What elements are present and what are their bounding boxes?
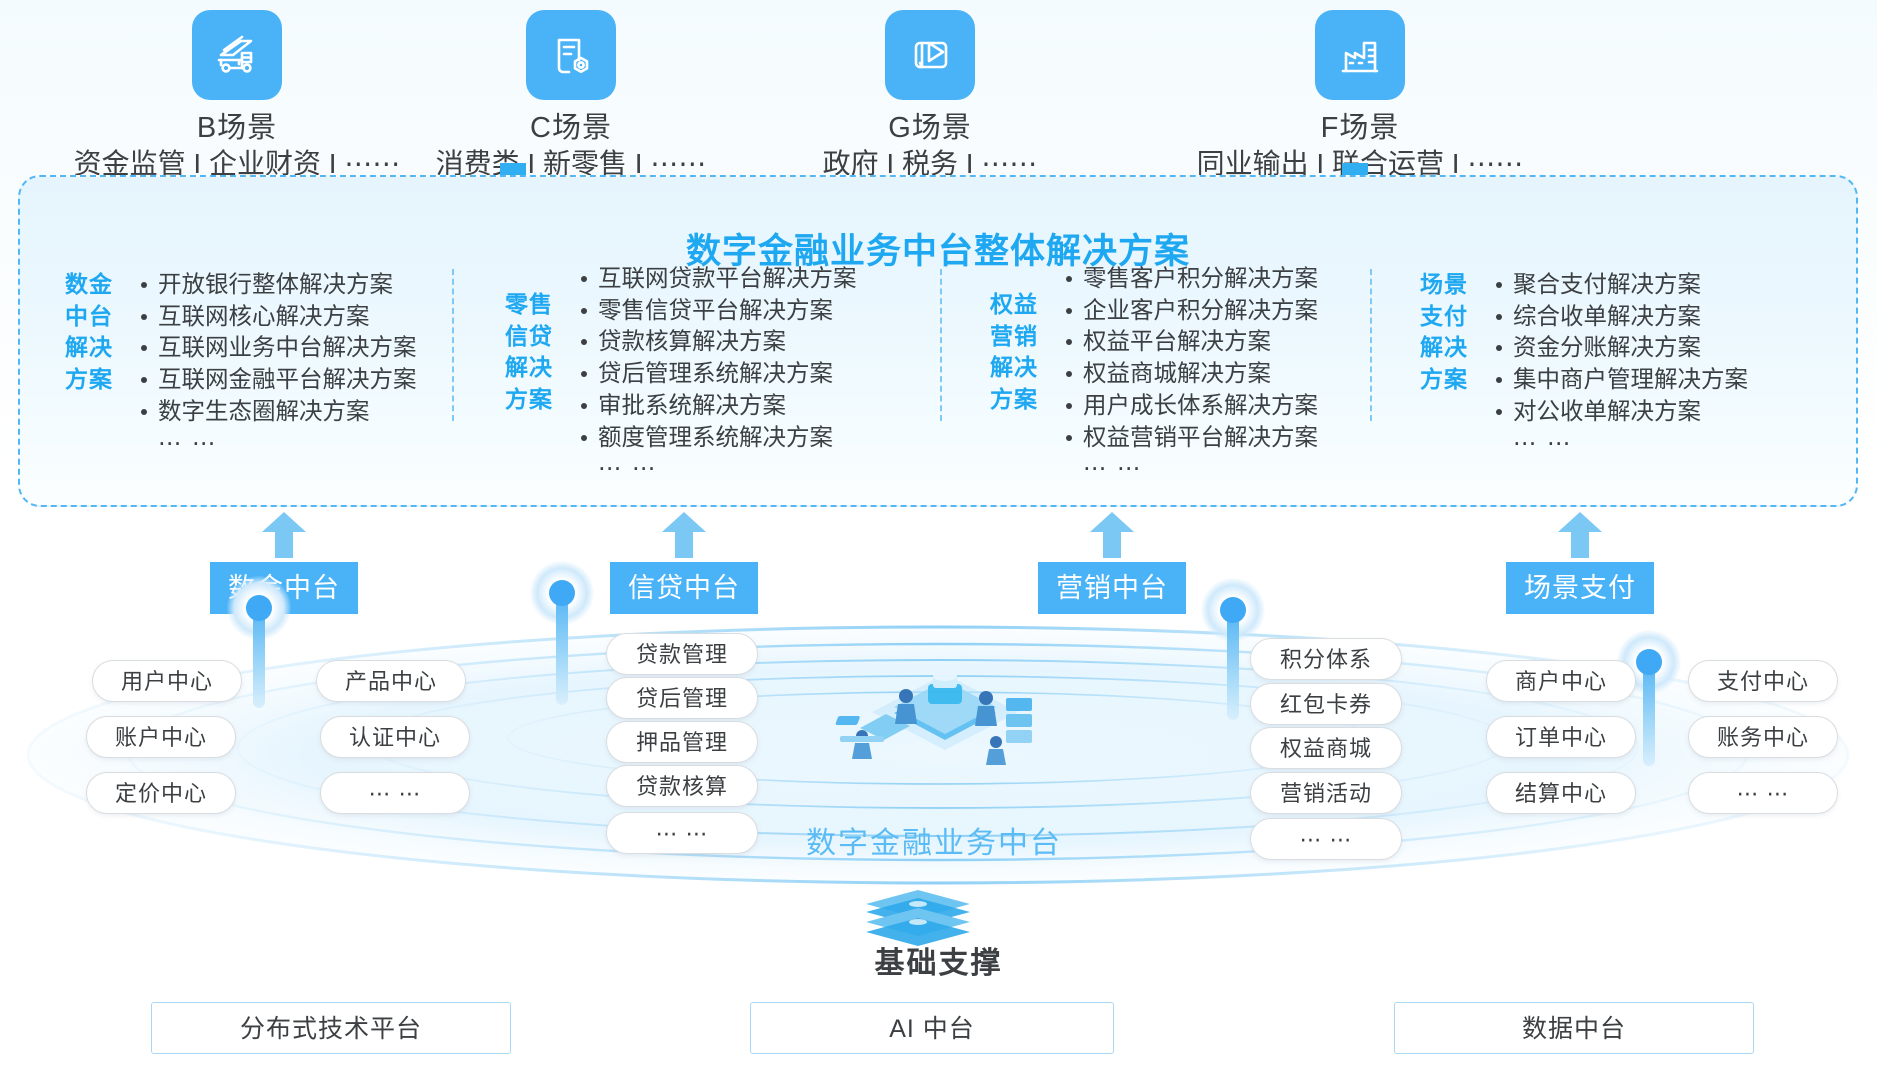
column-divider [940, 269, 942, 421]
capability-pill[interactable]: 定价中心 [86, 772, 236, 814]
base-platform-label: 数字金融业务中台 [806, 818, 1062, 862]
center-platform-illustration [800, 640, 1090, 800]
list-item: 综合收单解决方案 [1491, 301, 1748, 333]
list-ellipsis: ⋯ ⋯ [576, 453, 857, 484]
scene-title: F场景 [1195, 110, 1525, 146]
list-item: 数字生态圈解决方案 [136, 396, 417, 428]
solution-column-retail-credit: 零售 信贷 解决 方案 互联网贷款平台解决方案 零售信贷平台解决方案 贷款核算解… [490, 263, 857, 484]
foundation-box-ai[interactable]: AI 中台 [750, 1002, 1114, 1054]
post-dot [246, 595, 272, 621]
capability-pill[interactable]: ⋯ ⋯ [606, 812, 758, 854]
column-divider [1370, 269, 1372, 421]
column-label: 数金 中台 解决 方案 [50, 269, 128, 396]
list-item: 开放银行整体解决方案 [136, 269, 417, 301]
column-label: 权益 营销 解决 方案 [975, 289, 1053, 416]
arrow-shaft [1103, 532, 1121, 558]
list-ellipsis: ⋯ ⋯ [1061, 453, 1318, 484]
arrow-head [1558, 512, 1602, 532]
capability-pill[interactable]: 账户中心 [86, 716, 236, 758]
scene-title: B场景 [72, 110, 402, 146]
list-item: 企业客户积分解决方案 [1061, 295, 1318, 327]
capability-pill[interactable]: 商户中心 [1486, 660, 1636, 702]
column-divider [452, 269, 454, 421]
solution-panel: 数字金融业务中台整体解决方案 数金 中台 解决 方案 开放银行整体解决方案 互联… [18, 175, 1858, 507]
list-item: 互联网贷款平台解决方案 [576, 263, 857, 295]
list-item: 权益营销平台解决方案 [1061, 422, 1318, 454]
scene-title: C场景 [406, 110, 736, 146]
up-arrow-payment [1558, 512, 1602, 558]
list-ellipsis: ⋯ ⋯ [1491, 428, 1748, 459]
capability-pill[interactable]: 贷款管理 [606, 633, 758, 675]
column-label: 零售 信贷 解决 方案 [490, 289, 568, 416]
post-dot [1220, 597, 1246, 623]
diagram-canvas: B场景 资金监管 I 企业财资 I ⋯⋯ C场景 消费类 I 新零售 I ⋯⋯ … [0, 0, 1877, 1070]
up-arrow-shujin [262, 512, 306, 558]
map-flag-icon [885, 10, 975, 100]
list-item: 贷后管理系统解决方案 [576, 358, 857, 390]
list-item: 审批系统解决方案 [576, 390, 857, 422]
capability-pill[interactable]: 结算中心 [1486, 772, 1636, 814]
arrow-shaft [675, 532, 693, 558]
scene-card-g: G场景 政府 I 税务 I ⋯⋯ [765, 10, 1095, 183]
capability-pill[interactable]: 用户中心 [92, 660, 242, 702]
solution-column-rights-marketing: 权益 营销 解决 方案 零售客户积分解决方案 企业客户积分解决方案 权益平台解决… [975, 263, 1318, 484]
list-item: 用户成长体系解决方案 [1061, 390, 1318, 422]
capability-pill[interactable]: 贷后管理 [606, 677, 758, 719]
solution-column-scene-payment: 场景 支付 解决 方案 聚合支付解决方案 综合收单解决方案 资金分账解决方案 集… [1405, 269, 1748, 458]
arrow-head [262, 512, 306, 532]
column-label: 场景 支付 解决 方案 [1405, 269, 1483, 396]
capability-pill[interactable]: 贷款核算 [606, 765, 758, 807]
column-item-list: 开放银行整体解决方案 互联网核心解决方案 互联网业务中台解决方案 互联网金融平台… [136, 269, 417, 458]
scene-card-b: B场景 资金监管 I 企业财资 I ⋯⋯ [72, 10, 402, 183]
arrow-head [1090, 512, 1134, 532]
arrow-head [662, 512, 706, 532]
capability-pill[interactable]: 积分体系 [1250, 638, 1402, 680]
capability-pill[interactable]: 账务中心 [1688, 716, 1838, 758]
column-item-list: 互联网贷款平台解决方案 零售信贷平台解决方案 贷款核算解决方案 贷后管理系统解决… [576, 263, 857, 484]
list-item: 权益平台解决方案 [1061, 326, 1318, 358]
list-item: 权益商城解决方案 [1061, 358, 1318, 390]
column-item-list: 零售客户积分解决方案 企业客户积分解决方案 权益平台解决方案 权益商城解决方案 … [1061, 263, 1318, 484]
capability-pill[interactable]: ⋯ ⋯ [320, 772, 470, 814]
capability-pill[interactable]: 押品管理 [606, 721, 758, 763]
truck-cargo-icon [192, 10, 282, 100]
capability-pill[interactable]: 认证中心 [320, 716, 470, 758]
scene-title: G场景 [765, 110, 1095, 146]
capability-pill[interactable]: ⋯ ⋯ [1250, 818, 1402, 860]
list-ellipsis: ⋯ ⋯ [136, 428, 417, 459]
capability-pill[interactable]: 订单中心 [1486, 716, 1636, 758]
list-item: 额度管理系统解决方案 [576, 422, 857, 454]
list-item: 互联网金融平台解决方案 [136, 364, 417, 396]
post-dot [1636, 649, 1662, 675]
scene-card-f: F场景 同业输出 I 联合运营 I ⋯⋯ [1195, 10, 1525, 183]
foundation-box-data[interactable]: 数据中台 [1394, 1002, 1754, 1054]
post-dot [549, 580, 575, 606]
capability-pill[interactable]: ⋯ ⋯ [1688, 772, 1838, 814]
list-item: 零售客户积分解决方案 [1061, 263, 1318, 295]
scene-card-c: C场景 消费类 I 新零售 I ⋯⋯ [406, 10, 736, 183]
list-item: 资金分账解决方案 [1491, 332, 1748, 364]
capability-pill[interactable]: 产品中心 [316, 660, 466, 702]
capability-pill[interactable]: 营销活动 [1250, 772, 1402, 814]
arrow-shaft [1571, 532, 1589, 558]
list-item: 对公收单解决方案 [1491, 396, 1748, 428]
up-arrow-marketing [1090, 512, 1134, 558]
list-item: 集中商户管理解决方案 [1491, 364, 1748, 396]
capability-pill[interactable]: 红包卡券 [1250, 683, 1402, 725]
document-seal-icon [526, 10, 616, 100]
list-item: 零售信贷平台解决方案 [576, 295, 857, 327]
foundation-box-dist[interactable]: 分布式技术平台 [151, 1002, 511, 1054]
capability-pill[interactable]: 权益商城 [1250, 727, 1402, 769]
list-item: 互联网业务中台解决方案 [136, 332, 417, 364]
up-arrow-credit [662, 512, 706, 558]
foundation-label: 基础支撑 [0, 938, 1877, 982]
list-item: 互联网核心解决方案 [136, 301, 417, 333]
factory-building-icon [1315, 10, 1405, 100]
list-item: 贷款核算解决方案 [576, 326, 857, 358]
list-item: 聚合支付解决方案 [1491, 269, 1748, 301]
column-item-list: 聚合支付解决方案 综合收单解决方案 资金分账解决方案 集中商户管理解决方案 对公… [1491, 269, 1748, 458]
arrow-shaft [275, 532, 293, 558]
solution-column-shujin: 数金 中台 解决 方案 开放银行整体解决方案 互联网核心解决方案 互联网业务中台… [50, 269, 417, 458]
panel-title: 数字金融业务中台整体解决方案 [20, 223, 1856, 274]
capability-pill[interactable]: 支付中心 [1688, 660, 1838, 702]
